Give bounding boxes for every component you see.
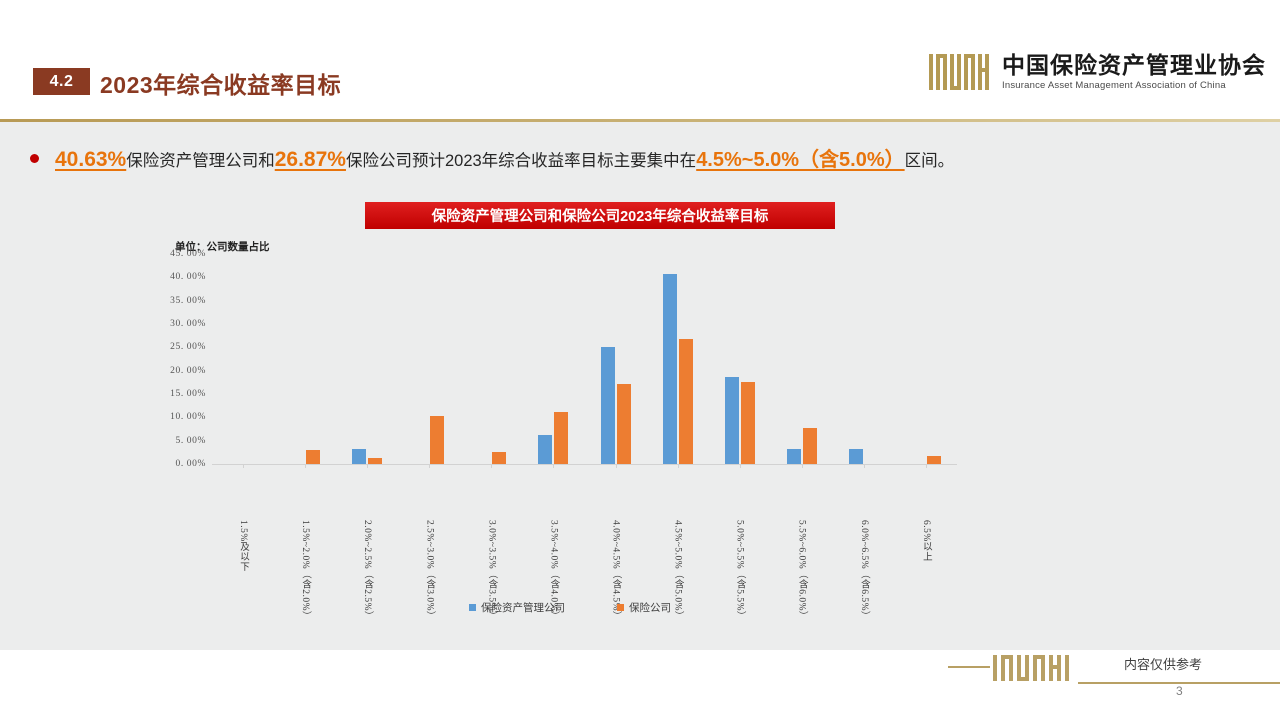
x-axis-label-text: 5.5%~6.0%（含6.0%） — [795, 520, 809, 640]
bar-series-b — [430, 416, 444, 464]
x-axis-label: 5.0%~5.5%（含5.5%） — [709, 520, 771, 640]
y-axis-tick: 40. 00% — [170, 272, 206, 282]
brand-logo: 中国保险资产管理业协会 Insurance Asset Management A… — [928, 52, 1266, 92]
slide-footer: 内容仅供参考 3 — [0, 650, 1280, 720]
bar-series-a — [601, 347, 615, 464]
chart-title: 保险资产管理公司和保险公司2023年综合收益率目标 — [365, 202, 835, 229]
footer-rule-left — [948, 666, 990, 668]
x-axis-labels: 1.5%及以下1.5%~2.0%（含2.0%）2.0%~2.5%（含2.5%）2… — [212, 520, 957, 640]
x-axis-label: 1.5%及以下 — [212, 520, 274, 640]
x-axis-tickmark — [367, 464, 368, 468]
stat-value-1: 40.63% — [55, 148, 126, 171]
x-axis-label: 2.5%~3.0%（含3.0%） — [398, 520, 460, 640]
y-axis-tick: 30. 00% — [170, 319, 206, 329]
bar-series-a — [352, 449, 366, 464]
x-axis-label: 4.0%~4.5%（含4.5%） — [584, 520, 646, 640]
chart-plot-area: 45. 00%40. 00%35. 00%30. 00%25. 00%20. 0… — [150, 254, 990, 479]
bar-series-b — [803, 428, 817, 464]
stat-value-3: 4.5%~5.0%（含5.0%） — [696, 149, 904, 171]
y-axis-tick: 45. 00% — [170, 249, 206, 259]
bar-series-b — [368, 458, 382, 464]
bar-category-group — [336, 254, 398, 464]
x-axis-label-text: 3.0%~3.5%（含3.5%） — [484, 520, 498, 640]
section-number-badge: 4.2 — [33, 68, 90, 95]
footer-note: 内容仅供参考 — [1124, 654, 1202, 673]
x-axis-tickmark — [802, 464, 803, 468]
iamac-logo-icon — [928, 52, 990, 92]
x-axis-label-text: 4.5%~5.0%（含5.0%） — [671, 520, 685, 640]
bar-category-group — [398, 254, 460, 464]
x-axis-label: 5.5%~6.0%（含6.0%） — [771, 520, 833, 640]
iamac-logo-icon — [992, 654, 1072, 682]
y-axis-tick: 15. 00% — [170, 389, 206, 399]
bar-category-group — [895, 254, 957, 464]
x-axis-tickmark — [678, 464, 679, 468]
bar-series-b — [492, 452, 506, 464]
bullet-dot-icon — [30, 154, 39, 163]
x-axis-label-text: 5.0%~5.5%（含5.5%） — [733, 520, 747, 640]
x-axis-tickmark — [864, 464, 865, 468]
y-axis-tick: 20. 00% — [170, 366, 206, 376]
bar-series-a — [787, 449, 801, 464]
bar-series-a — [725, 377, 739, 465]
x-axis-tickmark — [429, 464, 430, 468]
x-axis-tickmark — [305, 464, 306, 468]
bar-category-group — [771, 254, 833, 464]
bar-series-b — [927, 456, 941, 464]
x-axis-tickmark — [491, 464, 492, 468]
x-axis-label-text: 2.5%~3.0%（含3.0%） — [422, 520, 436, 640]
brand-text: 中国保险资产管理业协会 Insurance Asset Management A… — [1002, 54, 1266, 91]
y-axis-tick: 35. 00% — [170, 296, 206, 306]
x-axis-label: 3.5%~4.0%（含4.0%） — [522, 520, 584, 640]
chart-container: 保险资产管理公司和保险公司2023年综合收益率目标 单位：公司数量占比 45. … — [150, 202, 990, 642]
x-axis-label-text: 1.5%~2.0%（含2.0%） — [298, 520, 312, 640]
legend-item[interactable]: 保险公司 — [617, 600, 671, 615]
bar-category-group — [647, 254, 709, 464]
bar-series-a — [849, 449, 863, 464]
bullet-text-1: 保险资产管理公司和 — [126, 152, 275, 170]
bar-category-group — [460, 254, 522, 464]
x-axis-tickmark — [616, 464, 617, 468]
y-axis: 45. 00%40. 00%35. 00%30. 00%25. 00%20. 0… — [150, 254, 210, 464]
x-axis-label-text: 4.0%~4.5%（含4.5%） — [609, 520, 623, 640]
chart-legend: 保险资产管理公司保险公司 — [150, 600, 990, 615]
brand-name-en: Insurance Asset Management Association o… — [1002, 81, 1266, 91]
x-axis-label-text: 6.5%以上 — [919, 520, 933, 640]
x-axis-label-text: 3.5%~4.0%（含4.0%） — [546, 520, 560, 640]
plot-canvas — [212, 254, 957, 465]
bar-series-a — [663, 274, 677, 464]
bar-category-group — [584, 254, 646, 464]
bar-series-a — [538, 435, 552, 464]
x-axis-label: 6.5%以上 — [895, 520, 957, 640]
legend-label: 保险公司 — [629, 600, 671, 615]
bar-group — [212, 254, 957, 464]
bar-series-b — [554, 412, 568, 464]
brand-name-cn: 中国保险资产管理业协会 — [1002, 54, 1266, 77]
bullet-text-3: 区间。 — [905, 152, 955, 170]
bar-series-b — [306, 450, 320, 464]
x-axis-label: 2.0%~2.5%（含2.5%） — [336, 520, 398, 640]
bullet-text-2: 保险公司预计2023年综合收益率目标主要集中在 — [346, 152, 696, 170]
bar-series-b — [617, 384, 631, 464]
page-title: 2023年综合收益率目标 — [100, 66, 341, 100]
x-axis-label: 6.0%~6.5%（含6.5%） — [833, 520, 895, 640]
x-axis-tickmark — [740, 464, 741, 468]
y-axis-tick: 5. 00% — [175, 436, 206, 446]
y-axis-tick: 10. 00% — [170, 412, 206, 422]
bullet-text: 40.63%保险资产管理公司和26.87%保险公司预计2023年综合收益率目标主… — [55, 146, 954, 174]
x-axis-tickmark — [553, 464, 554, 468]
x-axis-label: 3.0%~3.5%（含3.5%） — [460, 520, 522, 640]
y-axis-tick: 25. 00% — [170, 342, 206, 352]
x-axis-label: 4.5%~5.0%（含5.0%） — [647, 520, 709, 640]
legend-label: 保险资产管理公司 — [481, 600, 565, 615]
bar-category-group — [709, 254, 771, 464]
legend-swatch-icon — [469, 604, 476, 611]
legend-swatch-icon — [617, 604, 624, 611]
x-axis-tickmark — [243, 464, 244, 468]
y-axis-tick: 0. 00% — [175, 459, 206, 469]
x-axis-label-text: 2.0%~2.5%（含2.5%） — [360, 520, 374, 640]
slide-body: 40.63%保险资产管理公司和26.87%保险公司预计2023年综合收益率目标主… — [0, 122, 1280, 650]
bar-series-b — [679, 339, 693, 464]
x-axis-tickmark — [926, 464, 927, 468]
slide-header: 4.2 2023年综合收益率目标 中国保险资产管理业协会 Insuran — [0, 0, 1280, 120]
legend-item[interactable]: 保险资产管理公司 — [469, 600, 565, 615]
x-axis-label: 1.5%~2.0%（含2.0%） — [274, 520, 336, 640]
bar-category-group — [522, 254, 584, 464]
x-axis-label-text: 1.5%及以下 — [236, 520, 250, 640]
stat-value-2: 26.87% — [275, 148, 346, 171]
x-axis-label-text: 6.0%~6.5%（含6.5%） — [857, 520, 871, 640]
bar-category-group — [212, 254, 274, 464]
bar-category-group — [833, 254, 895, 464]
bar-category-group — [274, 254, 336, 464]
bullet-statement: 40.63%保险资产管理公司和26.87%保险公司预计2023年综合收益率目标主… — [30, 146, 1260, 174]
page-number: 3 — [1176, 684, 1183, 698]
bar-series-b — [741, 382, 755, 464]
